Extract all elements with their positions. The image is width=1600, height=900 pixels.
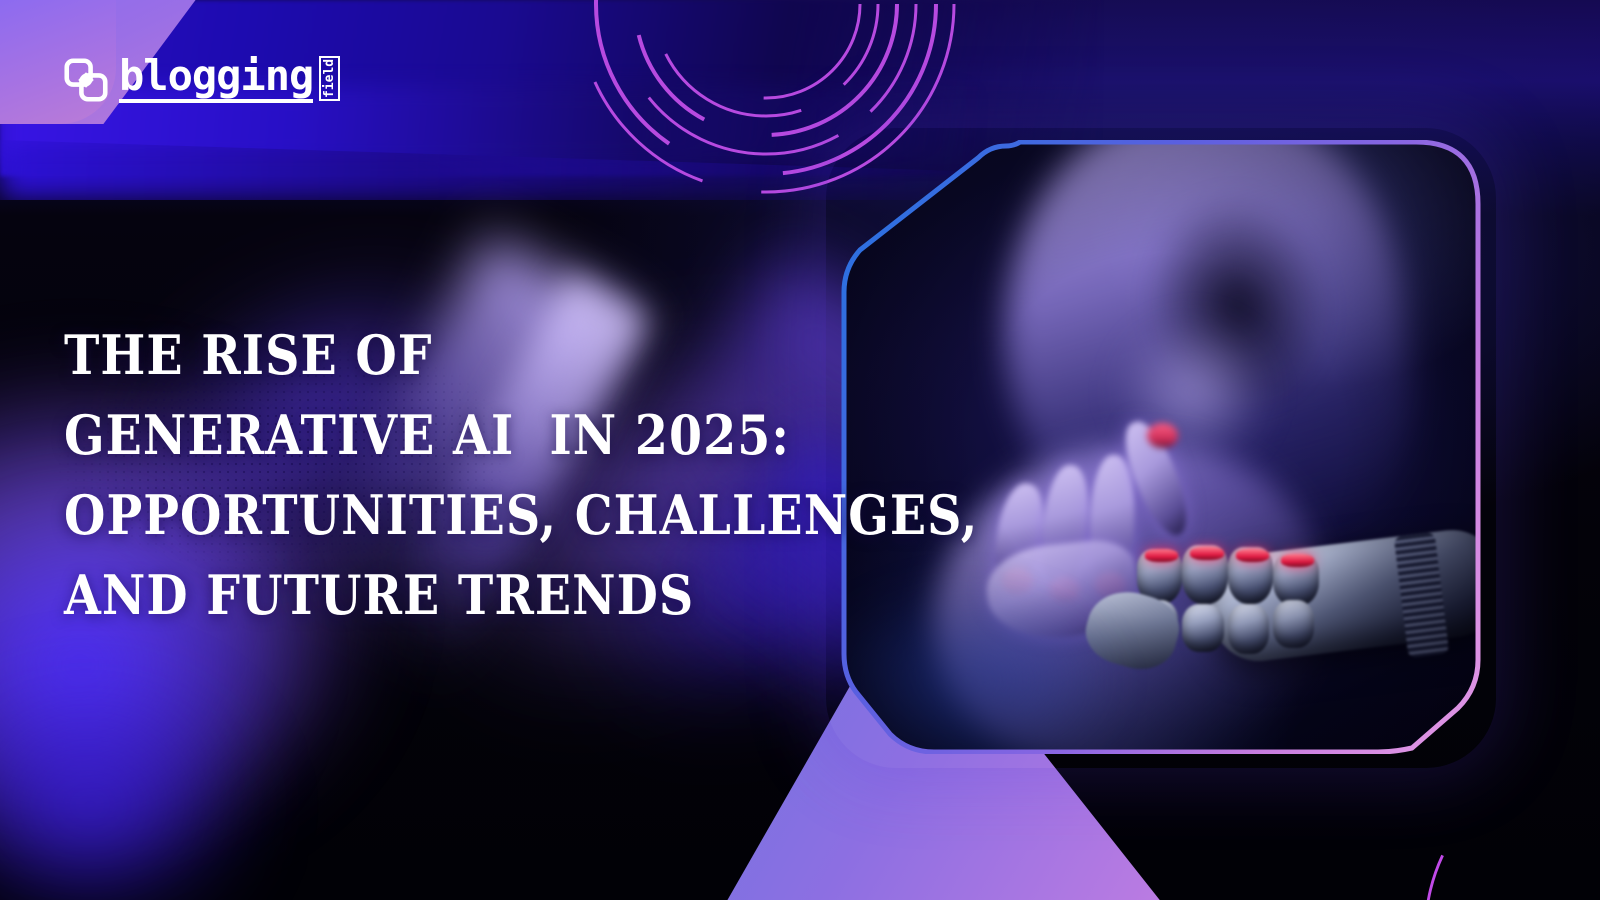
- overlapping-squares-logo-icon: [64, 58, 108, 102]
- page-title: THE RISE OF GENERATIVE AI IN 2025: OPPOR…: [64, 315, 944, 635]
- brand-wordmark: blogging field: [119, 56, 340, 103]
- headline-line-3: OPPORTUNITIES, CHALLENGES,: [64, 475, 838, 555]
- brand-suffix-badge: field: [319, 56, 340, 101]
- headline-line-2: GENERATIVE AI IN 2025:: [64, 395, 838, 475]
- headline-line-4: AND FUTURE TRENDS: [64, 555, 838, 635]
- brand-name: blogging: [119, 57, 313, 103]
- banner-root: blogging field THE RISE OF GENERATIVE AI…: [0, 0, 1600, 900]
- brand-logo[interactable]: blogging field: [64, 56, 340, 103]
- headline-line-1: THE RISE OF: [64, 315, 838, 395]
